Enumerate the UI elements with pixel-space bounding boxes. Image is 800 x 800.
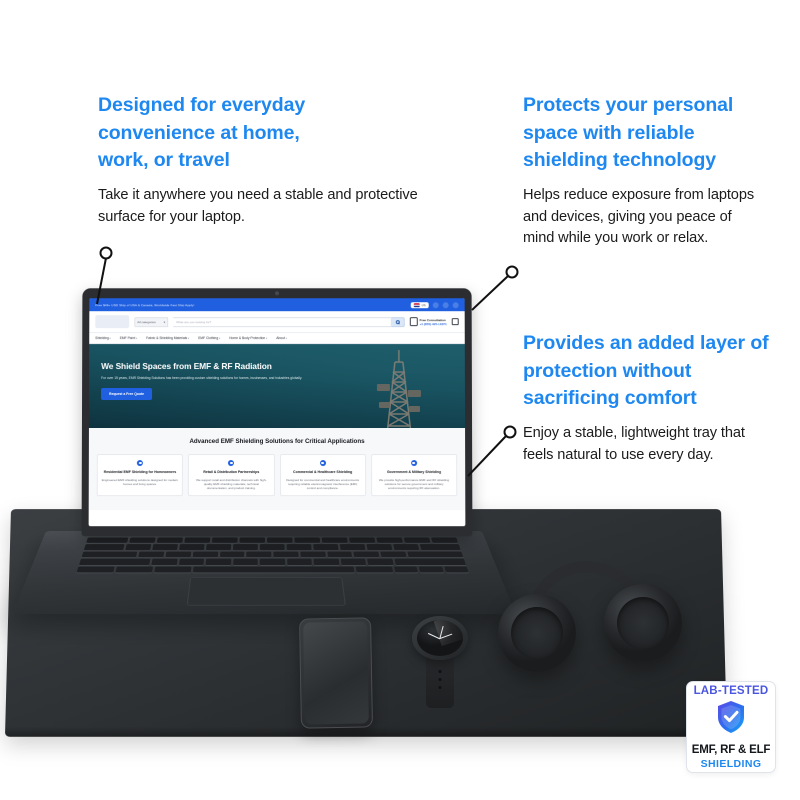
- cart-icon[interactable]: [453, 302, 459, 308]
- site-logo[interactable]: [95, 315, 129, 328]
- solution-card[interactable]: Residential EMF Shielding for Homeowners…: [97, 454, 183, 496]
- callout-1: Designed for everyday convenience at hom…: [98, 92, 348, 228]
- laptop-base: [12, 531, 515, 614]
- announcement-bar: Free $49+ USD Ship of USA & Canada, Worl…: [89, 298, 464, 311]
- search-icon: [396, 320, 400, 324]
- hero-subtitle: For over 15 years, EMR Shielding Solutio…: [101, 376, 375, 380]
- consultation-label: Free Consultation: [419, 318, 446, 322]
- card-text: Engineered EMF shielding solutions desig…: [102, 478, 178, 486]
- phone-icon: [410, 317, 418, 326]
- shield-check-icon: [716, 700, 746, 739]
- header-cart-icon[interactable]: [452, 318, 459, 325]
- scene: Free $49+ USD Ship of USA & Canada, Worl…: [0, 0, 800, 800]
- callout-3-body: Enjoy a stable, lightweight tray that fe…: [523, 423, 769, 466]
- callout-3: Provides an added layer of protection wi…: [523, 330, 769, 466]
- card-title: Retail & Distribution Partnerships: [193, 470, 269, 475]
- callout-leader-1: [92, 244, 122, 306]
- check-circle-icon: [137, 460, 143, 466]
- callout-leader-3: [462, 420, 522, 482]
- headphone-cup-left: [498, 594, 576, 672]
- callout-3-heading: Provides an added layer of protection wi…: [523, 330, 769, 413]
- lab-tested-badge: LAB-TESTED EMF, RF & ELF SHIELDING: [686, 681, 776, 773]
- website: Free $49+ USD Ship of USA & Canada, Worl…: [89, 298, 466, 526]
- watch-glare: [434, 620, 463, 646]
- nav-item-shielding[interactable]: Shielding: [95, 336, 111, 340]
- hero-banner: We Shield Spaces from EMF & RF Radiation…: [89, 344, 465, 428]
- callout-leader-2: [466, 262, 522, 314]
- callout-2-heading: Protects your personal space with reliab…: [523, 92, 765, 175]
- card-title: Residential EMF Shielding for Homeowners: [102, 470, 178, 475]
- chevron-down-icon: ▾: [164, 320, 166, 324]
- language-label: US: [422, 303, 426, 307]
- search-input[interactable]: What are you looking for?: [173, 317, 391, 327]
- section-title: Advanced EMF Shielding Solutions for Cri…: [97, 438, 457, 445]
- watch-case: [412, 616, 468, 660]
- solution-card[interactable]: Government & Military Shielding We provi…: [371, 454, 457, 496]
- laptop: Free $49+ USD Ship of USA & Canada, Worl…: [46, 288, 482, 666]
- badge-line-shielding: SHIELDING: [701, 758, 762, 770]
- us-flag-icon: [414, 303, 420, 307]
- trackpad: [187, 577, 346, 606]
- badge-line-lab-tested: LAB-TESTED: [694, 685, 769, 697]
- smartwatch: [410, 612, 470, 708]
- language-selector[interactable]: US: [411, 302, 429, 308]
- search-button[interactable]: [392, 317, 405, 327]
- card-text: We support retail and distribution chann…: [193, 478, 269, 491]
- card-text: Designed for commercial and healthcare e…: [285, 478, 361, 491]
- headphones: [492, 556, 698, 690]
- site-header: All categories ▾ What are you looking fo…: [89, 311, 464, 333]
- headphone-cup-right: [604, 584, 682, 662]
- nav-item-fabric-shielding-materials[interactable]: Fabric & Shielding Materials: [146, 336, 189, 340]
- free-consultation[interactable]: Free Consultation +1 (855) 425-16371: [410, 317, 447, 326]
- site-nav: Shielding EMF Paint Fabric & Shielding M…: [89, 333, 465, 344]
- nav-item-emf-clothing[interactable]: EMF Clothing: [198, 336, 220, 340]
- category-select[interactable]: All categories ▾: [134, 317, 168, 327]
- smartphone: [299, 617, 373, 728]
- card-title: Government & Military Shielding: [376, 470, 452, 475]
- solutions-section: Advanced EMF Shielding Solutions for Cri…: [89, 428, 466, 510]
- laptop-lid: Free $49+ USD Ship of USA & Canada, Worl…: [82, 288, 473, 536]
- consultation-phone: +1 (855) 425-16371: [420, 322, 447, 326]
- callout-2-body: Helps reduce exposure from laptops and d…: [523, 185, 765, 250]
- keyboard: [77, 538, 469, 573]
- nav-item-about[interactable]: About: [276, 336, 287, 340]
- badge-line-emf-rf-elf: EMF, RF & ELF: [692, 744, 771, 756]
- account-icon[interactable]: [433, 302, 439, 308]
- solution-card[interactable]: Retail & Distribution Partnerships We su…: [188, 454, 274, 496]
- wishlist-icon[interactable]: [443, 302, 449, 308]
- callout-1-heading: Designed for everyday convenience at hom…: [98, 92, 348, 175]
- callout-2: Protects your personal space with reliab…: [523, 92, 765, 250]
- solution-card[interactable]: Commercial & Healthcare Shielding Design…: [280, 454, 366, 496]
- solution-cards: Residential EMF Shielding for Homeowners…: [97, 454, 458, 496]
- smartphone-screen: [303, 621, 369, 724]
- nav-item-emf-paint[interactable]: EMF Paint: [120, 336, 137, 340]
- card-text: We provide high-performance EMF and RF s…: [376, 478, 452, 491]
- watch-face: [417, 620, 463, 656]
- hero-title: We Shield Spaces from EMF & RF Radiation: [101, 361, 375, 371]
- nav-item-home-body-protection[interactable]: Home & Body Protection: [229, 336, 267, 340]
- callout-1-body: Take it anywhere you need a stable and p…: [98, 185, 418, 228]
- check-circle-icon: [320, 460, 326, 466]
- check-circle-icon: [228, 460, 234, 466]
- laptop-screen: Free $49+ USD Ship of USA & Canada, Worl…: [89, 298, 466, 526]
- request-quote-button[interactable]: Request a Free Quote: [101, 388, 152, 400]
- mic-hole-icon: [636, 604, 639, 607]
- card-title: Commercial & Healthcare Shielding: [285, 470, 361, 475]
- check-circle-icon: [411, 460, 417, 466]
- category-select-label: All categories: [137, 320, 156, 324]
